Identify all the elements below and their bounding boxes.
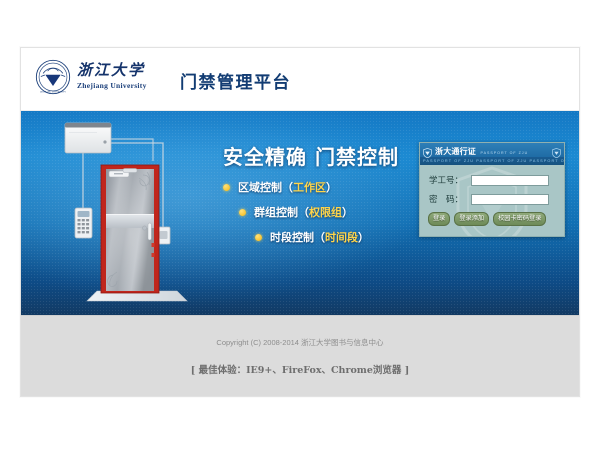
bullet-dot-icon — [239, 209, 246, 216]
bullet-text: 群组控制（ — [254, 204, 309, 220]
login-panel-strip: PASSPORT OF ZJU PASSPORT OF ZJU PASSPORT… — [420, 157, 564, 165]
password-label: 密 码： — [429, 193, 471, 205]
hero-banner: 安全精确 门禁控制 区域控制（ 工作区 ） 群组控制（ 权限组 ） 时段 — [21, 111, 579, 315]
bullet-dot-icon — [255, 234, 262, 241]
login-title-cn: 浙大通行证 — [435, 147, 476, 156]
staff-id-input[interactable] — [471, 175, 549, 186]
campus-card-login-button[interactable]: 校园卡密码登录 — [493, 212, 546, 226]
login-panel-header: 浙大通行证 PASSPORT OF ZJU — [420, 143, 564, 157]
login-add-button[interactable]: 登录添加 — [454, 212, 489, 226]
bullet-tail: ） — [326, 179, 337, 195]
site-footer: Copyright (C) 2008-2014 浙江大学图书与信息中心 [ 最佳… — [21, 315, 579, 397]
bullet-area-control: 区域控制（ 工作区 ） — [201, 179, 433, 195]
bullet-time-control: 时段控制（ 时间段 ） — [201, 229, 433, 245]
access-control-door-illustration — [35, 115, 195, 311]
bullet-group-control: 群组控制（ 权限组 ） — [201, 204, 433, 220]
keypad-reader — [75, 208, 92, 238]
login-button-row: 登录 登录添加 校园卡密码登录 — [420, 212, 564, 226]
controller-box — [65, 123, 111, 153]
login-title-en: PASSPORT OF ZJU — [480, 151, 528, 155]
shield-icon — [423, 145, 432, 155]
staff-id-label: 学工号： — [429, 174, 471, 186]
login-button[interactable]: 登录 — [428, 212, 450, 226]
bullet-dot-icon — [223, 184, 230, 191]
bullet-text: 区域控制（ — [238, 179, 293, 195]
bullet-emphasis: 权限组 — [309, 204, 342, 220]
bullet-emphasis: 时间段 — [325, 229, 358, 245]
bullet-emphasis: 工作区 — [293, 179, 326, 195]
browser-recommendation-text: [ 最佳体验：IE9+、FireFox、Chrome浏览器 ] — [21, 348, 579, 376]
site-header: ZHEJIANG UNIVERSITY 浙江大学 Zhejiang Univer… — [21, 48, 579, 111]
login-panel-title: 浙大通行证 PASSPORT OF ZJU — [435, 142, 528, 158]
field-row-password: 密 码： — [420, 193, 564, 205]
password-input[interactable] — [471, 194, 549, 205]
page-card: ZHEJIANG UNIVERSITY 浙江大学 Zhejiang Univer… — [20, 47, 580, 397]
screenshot-root: ZHEJIANG UNIVERSITY 浙江大学 Zhejiang Univer… — [0, 0, 600, 450]
svg-text:ZHEJIANG UNIVERSITY: ZHEJIANG UNIVERSITY — [40, 90, 66, 93]
banner-headline: 安全精确 门禁控制 — [201, 141, 421, 170]
login-strip-text: PASSPORT OF ZJU PASSPORT OF ZJU PASSPORT… — [420, 159, 564, 163]
feature-bullets: 区域控制（ 工作区 ） 群组控制（ 权限组 ） 时段控制（ 时间段 ） — [201, 179, 433, 254]
shield-icon-secondary — [552, 145, 561, 155]
bullet-tail: ） — [342, 204, 353, 220]
university-name: 浙江大学 Zhejiang University — [77, 64, 147, 90]
brand-logo[interactable]: ZHEJIANG UNIVERSITY 浙江大学 Zhejiang Univer… — [35, 59, 147, 95]
university-name-cn: 浙江大学 — [77, 64, 147, 79]
university-name-en: Zhejiang University — [77, 82, 147, 90]
zju-seal-icon: ZHEJIANG UNIVERSITY — [35, 59, 71, 95]
bullet-tail: ） — [358, 229, 369, 245]
page-title: 门禁管理平台 — [180, 68, 291, 93]
field-row-staff-id: 学工号： — [420, 174, 564, 186]
login-panel: 浙大通行证 PASSPORT OF ZJU PASSPORT OF ZJU PA… — [419, 142, 565, 237]
bullet-text: 时段控制（ — [270, 229, 325, 245]
login-form: 学工号： 密 码： 登录 登录添加 校园卡密码登录 — [420, 165, 564, 226]
copyright-text: Copyright (C) 2008-2014 浙江大学图书与信息中心 — [21, 316, 579, 348]
